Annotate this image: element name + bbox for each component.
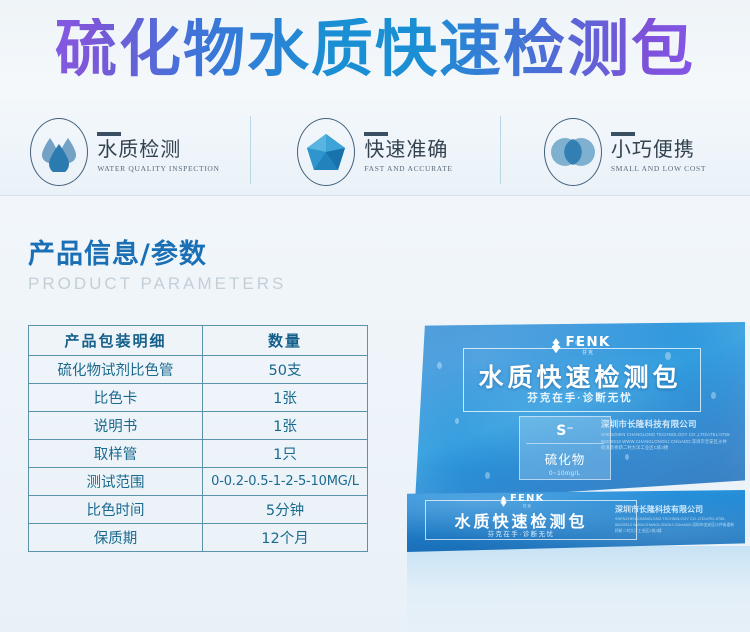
flame-drop-icon <box>549 338 562 353</box>
feature-text: 小巧便携 SMALL AND LOW COST <box>611 132 706 173</box>
box-top-face: FENK 芬克 水质快速检测包 芬克在手·诊断无忧 深圳市长隆科技有限公司 SH… <box>415 322 745 502</box>
feature-text: 快速准确 FAST AND ACCURATE <box>364 132 452 173</box>
box-product-title: 水质快速检测包 <box>415 358 745 394</box>
overlapping-circles-icon <box>544 118 602 186</box>
section-heading: 产品信息/参数 PRODUCT PARAMETERS <box>28 232 286 294</box>
water-drop-icon <box>30 118 88 186</box>
table-cell-key: 说明书 <box>29 412 203 440</box>
feature-text: 水质检测 WATER QUALITY INSPECTION <box>97 132 219 173</box>
header-banner: 硫化物水质快速检测包 水质检测 WATER QUALITY INSPECTION <box>0 0 750 196</box>
company-name: 深圳市长隆科技有限公司 <box>615 504 735 515</box>
feature-label-en: FAST AND ACCURATE <box>364 164 452 173</box>
company-address: SHENZHEN CHANGLONG TECHNOLOGY CO.,LTD\nT… <box>615 516 735 534</box>
analyte-name: 硫化物 <box>520 444 610 468</box>
brand-name-cn: 芬克 <box>582 351 594 356</box>
table-header-qty: 数量 <box>203 326 368 356</box>
table-header-item: 产品包装明细 <box>29 326 203 356</box>
brand-name-en: FENK <box>565 336 610 350</box>
analyte-symbol: S⁻ <box>520 417 610 439</box>
product-detail-page: 硫化物水质快速检测包 水质检测 WATER QUALITY INSPECTION <box>0 0 750 632</box>
table-row: 说明书 1张 <box>29 412 368 440</box>
feature-item-water-quality: 水质检测 WATER QUALITY INSPECTION <box>0 118 250 186</box>
box-front-face: FENK 芬克 水质快速检测包 芬克在手·诊断无忧 深圳市长隆科技有限公司 SH… <box>407 490 745 552</box>
company-address: SHENZHEN CHANGLONG TECHNOLOGY CO.,LTD\nT… <box>601 432 731 452</box>
table-row: 比色时间 5分钟 <box>29 496 368 524</box>
feature-label-cn: 水质检测 <box>97 139 181 162</box>
feature-item-fast-accurate: 快速准确 FAST AND ACCURATE <box>250 118 500 186</box>
table-cell-key: 比色时间 <box>29 496 203 524</box>
company-name: 深圳市长隆科技有限公司 <box>601 418 731 430</box>
flame-drop-icon <box>499 496 508 507</box>
table-row: 测试范围 0-0.2-0.5-1-2-5-10MG/L <box>29 468 368 496</box>
feature-label-cn: 快速准确 <box>364 139 448 162</box>
product-parameters-table: 产品包装明细 数量 硫化物试剂比色管 50支 比色卡 1张 说明书 1张 取样管… <box>28 325 368 552</box>
feature-dash <box>97 132 121 136</box>
table-cell-value: 12个月 <box>203 524 368 552</box>
table-header-row: 产品包装明细 数量 <box>29 326 368 356</box>
table-cell-value: 1张 <box>203 412 368 440</box>
table-cell-key: 硫化物试剂比色管 <box>29 356 203 384</box>
box-reflection <box>407 546 750 632</box>
table-cell-value: 0-0.2-0.5-1-2-5-10MG/L <box>203 468 368 496</box>
front-brand-text: FENK 芬克 <box>510 494 545 509</box>
box-company-info: 深圳市长隆科技有限公司 SHENZHEN CHANGLONG TECHNOLOG… <box>601 418 731 452</box>
feature-dash <box>611 132 635 136</box>
table-cell-key: 比色卡 <box>29 384 203 412</box>
brand-text: FENK 芬克 <box>565 336 610 356</box>
pentagon-facet-icon <box>297 118 355 186</box>
table-cell-value: 1张 <box>203 384 368 412</box>
feature-list: 水质检测 WATER QUALITY INSPECTION <box>0 112 750 192</box>
table-cell-value: 1只 <box>203 440 368 468</box>
front-tagline: 芬克在手·诊断无忧 <box>407 528 635 538</box>
table-row: 比色卡 1张 <box>29 384 368 412</box>
table-row: 硫化物试剂比色管 50支 <box>29 356 368 384</box>
product-box-image: FENK 芬克 水质快速检测包 芬克在手·诊断无忧 深圳市长隆科技有限公司 SH… <box>407 322 750 632</box>
feature-label-en: SMALL AND LOW COST <box>611 164 706 173</box>
brand-logo: FENK 芬克 <box>549 336 610 356</box>
feature-label-en: WATER QUALITY INSPECTION <box>97 164 219 173</box>
feature-label-cn: 小巧便携 <box>611 139 695 162</box>
front-company-info: 深圳市长隆科技有限公司 SHENZHEN CHANGLONG TECHNOLOG… <box>615 504 735 534</box>
brand-name-en: FENK <box>510 494 545 504</box>
table-cell-value: 50支 <box>203 356 368 384</box>
box-tagline: 芬克在手·诊断无忧 <box>415 390 745 405</box>
table-cell-key: 保质期 <box>29 524 203 552</box>
table-row: 保质期 12个月 <box>29 524 368 552</box>
section-title-en: PRODUCT PARAMETERS <box>28 274 286 294</box>
analyte-label-panel: S⁻ 硫化物 0~10mg/L <box>519 416 611 480</box>
analyte-range: 0~10mg/L <box>520 468 610 477</box>
table-cell-value: 5分钟 <box>203 496 368 524</box>
feature-dash <box>364 132 388 136</box>
page-title: 硫化物水质快速检测包 <box>0 18 750 80</box>
table-row: 取样管 1只 <box>29 440 368 468</box>
table-cell-key: 测试范围 <box>29 468 203 496</box>
feature-item-portable: 小巧便携 SMALL AND LOW COST <box>500 118 750 186</box>
front-brand-logo: FENK 芬克 <box>499 494 545 509</box>
section-title-cn: 产品信息/参数 <box>28 232 286 271</box>
table-cell-key: 取样管 <box>29 440 203 468</box>
